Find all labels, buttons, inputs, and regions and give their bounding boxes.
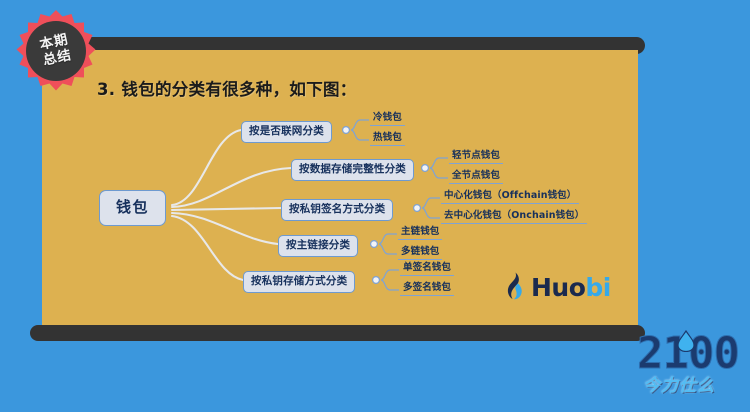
- mindmap-leaf-5-2[interactable]: 多签名钱包: [400, 283, 454, 296]
- badge-text: 本期 总结: [5, 0, 107, 102]
- mindmap-branch-3[interactable]: 按私钥签名方式分类: [281, 199, 393, 221]
- mindmap-branch-2[interactable]: 按数据存储完整性分类: [291, 159, 414, 181]
- mindmap-branch-4[interactable]: 按主链接分类: [278, 235, 358, 257]
- mindmap-leaf-3-1[interactable]: 中心化钱包（Offchain钱包）: [441, 191, 579, 204]
- huobi-logo: Huobi: [504, 272, 611, 302]
- mindmap-leaf-5-1[interactable]: 单签名钱包: [400, 263, 454, 276]
- watermark-subtitle: 今力仕么: [643, 378, 750, 395]
- episode-summary-badge: 本期 总结: [13, 8, 99, 94]
- badge-line-2: 总结: [42, 48, 74, 70]
- mindmap-leaf-1-2[interactable]: 热钱包: [370, 133, 405, 146]
- mindmap-branch-5[interactable]: 按私钥存储方式分类: [243, 271, 355, 293]
- mindmap-leaf-2-1[interactable]: 轻节点钱包: [449, 151, 503, 164]
- board-bottom-frame: [30, 325, 645, 341]
- channel-watermark: 2100 今力仕么: [637, 332, 750, 412]
- mindmap-branch-1[interactable]: 按是否联网分类: [241, 121, 332, 143]
- mindmap-leaf-3-2[interactable]: 去中心化钱包（Onchain钱包）: [441, 211, 587, 224]
- huobi-flame-icon: [504, 272, 526, 302]
- slide-canvas: 3. 钱包的分类有很多种，如下图：: [0, 0, 750, 412]
- mindmap-root-node[interactable]: 钱包: [99, 190, 166, 226]
- mindmap-leaf-4-2[interactable]: 多链钱包: [398, 247, 442, 260]
- mindmap-leaf-1-1[interactable]: 冷钱包: [370, 113, 405, 126]
- mindmap-leaf-4-1[interactable]: 主链钱包: [398, 227, 442, 240]
- water-droplet-icon: [677, 330, 695, 352]
- huobi-wordmark: Huobi: [531, 275, 611, 300]
- mindmap-leaf-2-2[interactable]: 全节点钱包: [449, 171, 503, 184]
- huobi-word-light: bi: [585, 273, 610, 302]
- huobi-word-dark: Huo: [531, 273, 585, 302]
